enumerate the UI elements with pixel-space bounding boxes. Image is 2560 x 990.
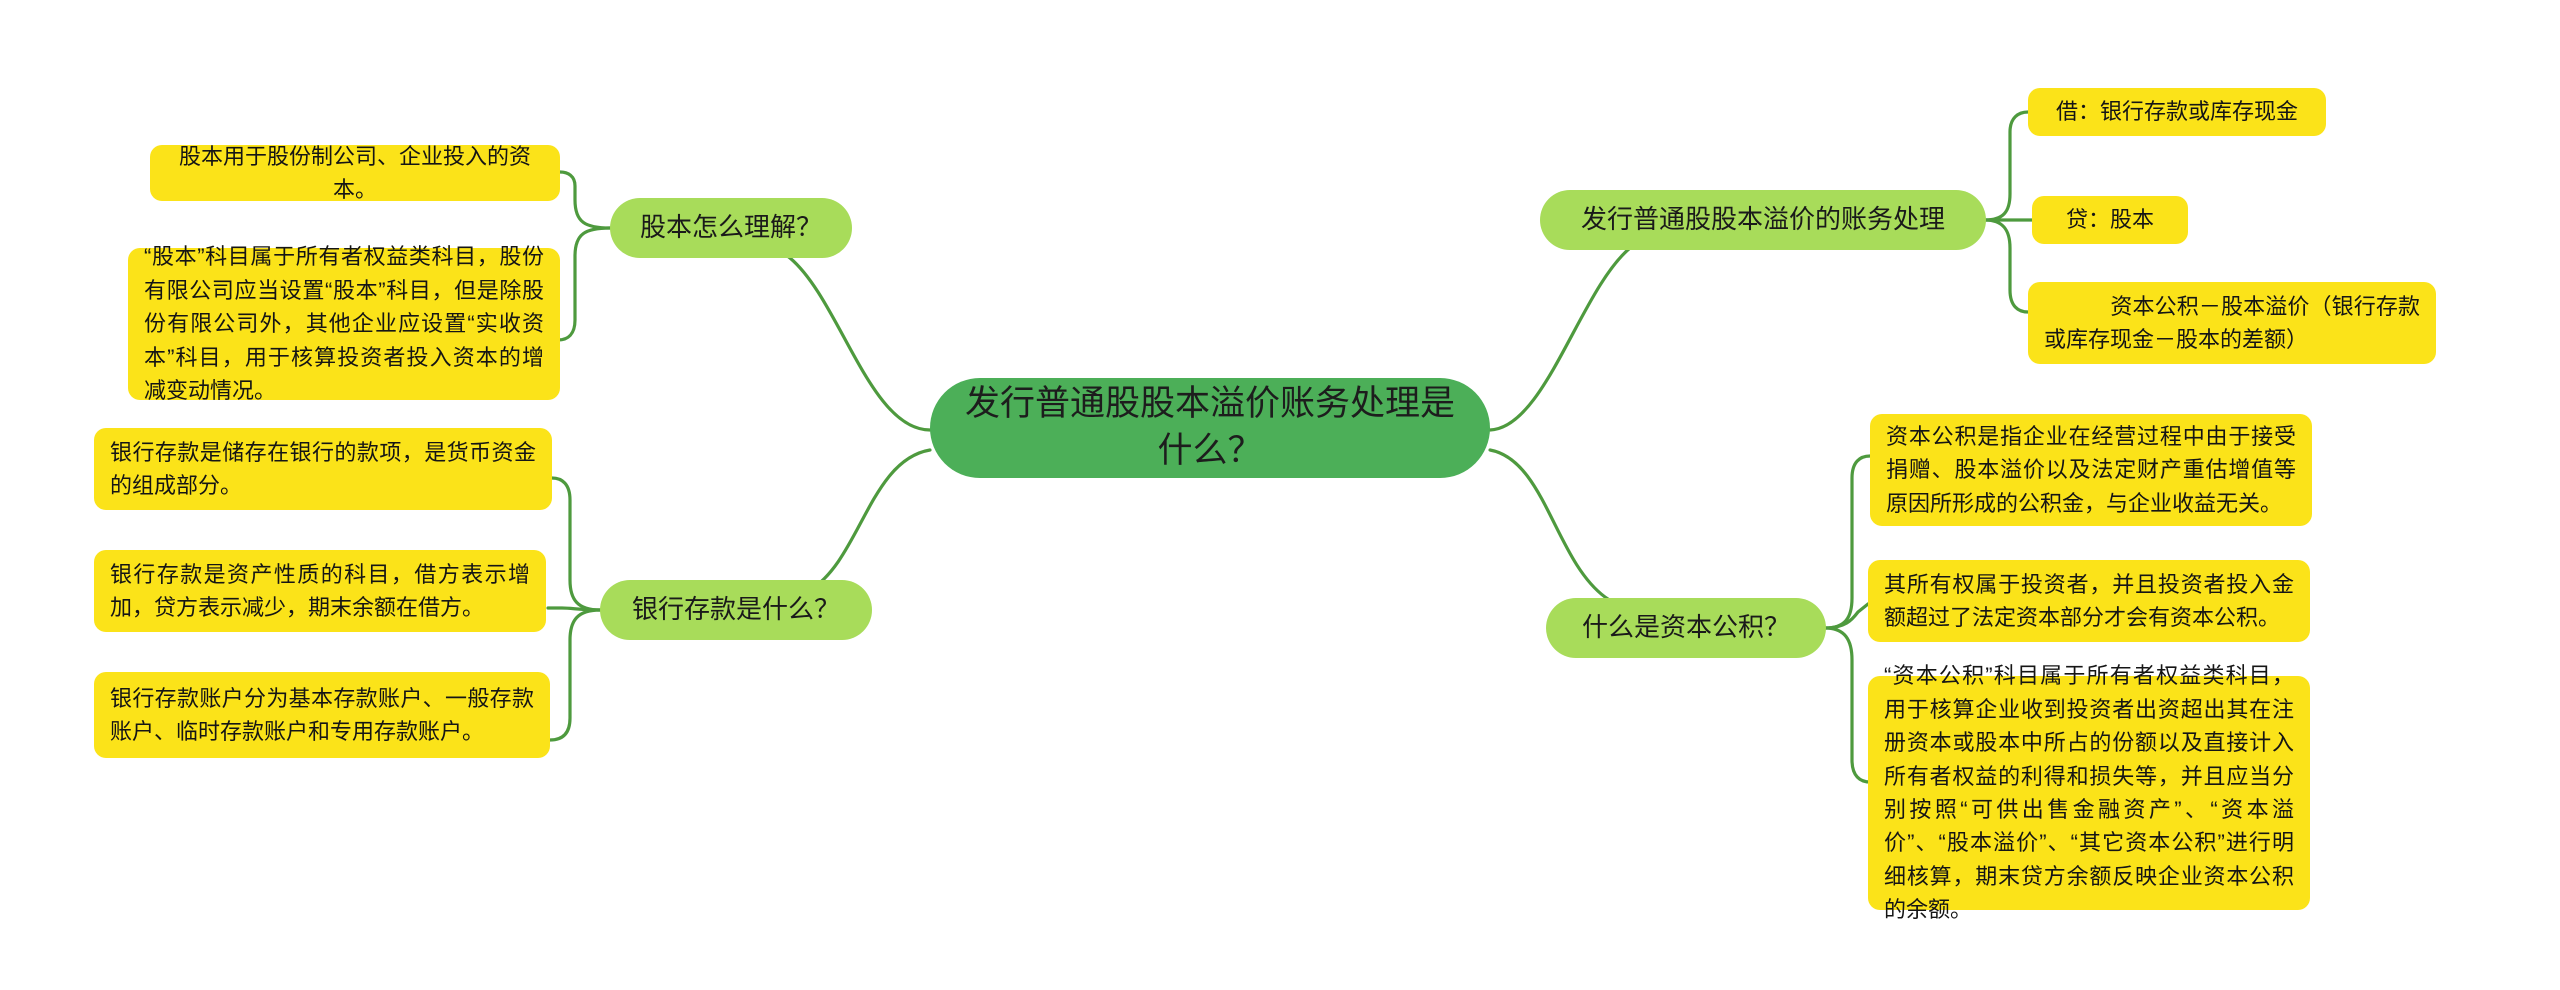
- link-yinhang-trunk-2: [548, 608, 600, 610]
- link-zibengongji-trunk-3: [1825, 628, 1870, 782]
- link-faxing-trunk-1: [1985, 112, 2028, 220]
- leaf-node-zibengongji-3[interactable]: “资本公积”科目属于所有者权益类科目，用于核算企业收到投资者出资超出其在注册资本…: [1868, 676, 2310, 910]
- link-guben-trunk: [560, 172, 610, 228]
- branch-node-guben[interactable]: 股本怎么理解？: [610, 198, 852, 258]
- branch-node-yinhang-label: 银行存款是什么？: [626, 593, 846, 627]
- leaf-node-faxing-3[interactable]: 资本公积－股本溢价（银行存款或库存现金－股本的差额）: [2028, 282, 2436, 364]
- link-zibengongji-trunk-2: [1825, 604, 1868, 628]
- link-root-to-guben: [700, 228, 930, 430]
- mindmap-canvas: 发行普通股股本溢价账务处理是什么？ 股本怎么理解？ 股本用于股份制公司、企业投入…: [0, 0, 2560, 990]
- link-guben-trunk-2: [558, 228, 610, 340]
- leaf-node-faxing-1[interactable]: 借：银行存款或库存现金: [2028, 88, 2326, 136]
- leaf-node-faxing-2-text: 贷：股本: [2048, 203, 2172, 236]
- leaf-node-yinhang-1[interactable]: 银行存款是储存在银行的款项，是货币资金的组成部分。: [94, 428, 552, 510]
- leaf-node-yinhang-3-text: 银行存款账户分为基本存款账户、一般存款账户、临时存款账户和专用存款账户。: [110, 682, 534, 749]
- branch-node-guben-label: 股本怎么理解？: [636, 211, 826, 245]
- link-root-to-faxing: [1490, 220, 1720, 430]
- leaf-node-guben-2[interactable]: “股本”科目属于所有者权益类科目，股份有限公司应当设置“股本”科目，但是除股份有…: [128, 248, 560, 400]
- leaf-node-zibengongji-1[interactable]: 资本公积是指企业在经营过程中由于接受捐赠、股本溢价以及法定财产重估增值等原因所形…: [1870, 414, 2312, 526]
- leaf-node-yinhang-3[interactable]: 银行存款账户分为基本存款账户、一般存款账户、临时存款账户和专用存款账户。: [94, 672, 550, 758]
- leaf-node-faxing-3-text: 资本公积－股本溢价（银行存款或库存现金－股本的差额）: [2044, 290, 2420, 357]
- link-yinhang-trunk-3: [550, 610, 600, 740]
- leaf-node-yinhang-2[interactable]: 银行存款是资产性质的科目，借方表示增加，贷方表示减少，期末余额在借方。: [94, 550, 546, 632]
- branch-node-faxing[interactable]: 发行普通股股本溢价的账务处理: [1540, 190, 1986, 250]
- leaf-node-zibengongji-3-text: “资本公积”科目属于所有者权益类科目，用于核算企业收到投资者出资超出其在注册资本…: [1884, 659, 2294, 927]
- branch-node-zibengongji[interactable]: 什么是资本公积？: [1546, 598, 1826, 658]
- leaf-node-faxing-2[interactable]: 贷：股本: [2032, 196, 2188, 244]
- link-faxing-trunk-3: [1985, 220, 2028, 312]
- link-zibengongji-trunk-1: [1825, 456, 1870, 628]
- root-node[interactable]: 发行普通股股本溢价账务处理是什么？: [930, 378, 1490, 478]
- leaf-node-zibengongji-2-text: 其所有权属于投资者，并且投资者投入金额超过了法定资本部分才会有资本公积。: [1884, 568, 2294, 635]
- leaf-node-zibengongji-2[interactable]: 其所有权属于投资者，并且投资者投入金额超过了法定资本部分才会有资本公积。: [1868, 560, 2310, 642]
- leaf-node-faxing-1-text: 借：银行存款或库存现金: [2044, 95, 2310, 128]
- leaf-node-guben-1-text: 股本用于股份制公司、企业投入的资本。: [166, 140, 544, 207]
- leaf-node-yinhang-2-text: 银行存款是资产性质的科目，借方表示增加，贷方表示减少，期末余额在借方。: [110, 558, 530, 625]
- leaf-node-zibengongji-1-text: 资本公积是指企业在经营过程中由于接受捐赠、股本溢价以及法定财产重估增值等原因所形…: [1886, 420, 2296, 520]
- root-node-label: 发行普通股股本溢价账务处理是什么？: [960, 381, 1460, 475]
- leaf-node-yinhang-1-text: 银行存款是储存在银行的款项，是货币资金的组成部分。: [110, 436, 536, 503]
- branch-node-yinhang[interactable]: 银行存款是什么？: [600, 580, 872, 640]
- branch-node-zibengongji-label: 什么是资本公积？: [1572, 611, 1800, 645]
- leaf-node-guben-2-text: “股本”科目属于所有者权益类科目，股份有限公司应当设置“股本”科目，但是除股份有…: [144, 240, 544, 407]
- leaf-node-guben-1[interactable]: 股本用于股份制公司、企业投入的资本。: [150, 145, 560, 201]
- branch-node-faxing-label: 发行普通股股本溢价的账务处理: [1566, 203, 1960, 237]
- link-yinhang-trunk-1: [552, 478, 600, 610]
